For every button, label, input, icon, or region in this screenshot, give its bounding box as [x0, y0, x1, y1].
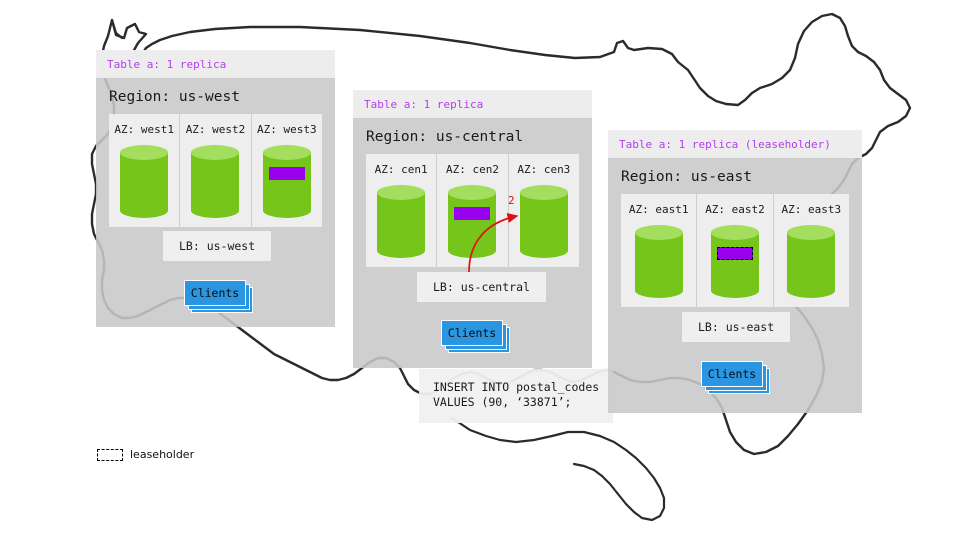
az-row-us-central: AZ: cen1 AZ: cen2 AZ: cen3 — [366, 154, 579, 267]
node-cylinder-west2[interactable] — [191, 145, 239, 217]
az-label-west2: AZ: west2 — [186, 123, 246, 136]
cylinder-top — [635, 225, 683, 240]
panel-header-us-east: Table a: 1 replica (leaseholder) — [608, 130, 862, 158]
cylinder-body — [263, 152, 311, 210]
region-title-us-central: Region: us-central — [353, 118, 592, 154]
node-cylinder-west1[interactable] — [120, 145, 168, 217]
az-cell-west3[interactable]: AZ: west3 — [252, 114, 322, 227]
replica-block-cen2 — [454, 207, 490, 220]
panel-header-us-central: Table a: 1 replica — [353, 90, 592, 118]
node-cylinder-cen3[interactable] — [520, 185, 568, 257]
clients-label: Clients — [184, 280, 246, 306]
az-label-west3: AZ: west3 — [257, 123, 317, 136]
cylinder-top — [263, 145, 311, 160]
az-cell-east2[interactable]: AZ: east2 — [697, 194, 773, 307]
cylinder-body — [520, 192, 568, 250]
load-balancer-us-west[interactable]: LB: us-west — [163, 231, 271, 261]
diagram-canvas: Table a: 1 replica Region: us-west AZ: w… — [0, 0, 960, 540]
cylinder-top — [520, 185, 568, 200]
az-row-us-east: AZ: east1 AZ: east2 AZ: east3 — [621, 194, 849, 307]
region-panel-us-west: Table a: 1 replica Region: us-west AZ: w… — [96, 50, 335, 327]
az-cell-cen1[interactable]: AZ: cen1 — [366, 154, 437, 267]
node-cylinder-cen2[interactable] — [448, 185, 496, 257]
node-cylinder-west3[interactable] — [263, 145, 311, 217]
cylinder-top — [377, 185, 425, 200]
region-panel-us-east: Table a: 1 replica (leaseholder) Region:… — [608, 130, 862, 413]
az-cell-cen2[interactable]: AZ: cen2 — [437, 154, 508, 267]
cylinder-top — [711, 225, 759, 240]
cylinder-body — [787, 232, 835, 290]
az-label-east3: AZ: east3 — [782, 203, 842, 216]
az-label-cen1: AZ: cen1 — [375, 163, 428, 176]
az-cell-west2[interactable]: AZ: west2 — [180, 114, 251, 227]
clients-label: Clients — [441, 320, 503, 346]
cylinder-body — [377, 192, 425, 250]
az-label-east1: AZ: east1 — [629, 203, 689, 216]
az-row-us-west: AZ: west1 AZ: west2 AZ: west3 — [109, 114, 322, 227]
cylinder-top — [787, 225, 835, 240]
arrow-step-label-2: 2 — [508, 194, 515, 207]
clients-stack-us-central[interactable]: Clients — [441, 320, 503, 346]
cylinder-top — [120, 145, 168, 160]
sql-statement-box: INSERT INTO postal_codes VALUES (90, ‘33… — [419, 369, 613, 423]
cylinder-body — [711, 232, 759, 290]
legend-leaseholder: leaseholder — [97, 448, 194, 461]
az-cell-west1[interactable]: AZ: west1 — [109, 114, 180, 227]
az-label-west1: AZ: west1 — [114, 123, 174, 136]
clients-stack-us-east[interactable]: Clients — [701, 361, 763, 387]
leaseholder-replica-block-east2 — [717, 247, 753, 260]
cylinder-body — [120, 152, 168, 210]
region-title-us-west: Region: us-west — [96, 78, 335, 114]
cylinder-body — [635, 232, 683, 290]
legend-label: leaseholder — [130, 448, 194, 461]
leaseholder-swatch-icon — [97, 449, 123, 461]
az-label-east2: AZ: east2 — [705, 203, 765, 216]
az-cell-east3[interactable]: AZ: east3 — [774, 194, 849, 307]
node-cylinder-east3[interactable] — [787, 225, 835, 297]
az-label-cen2: AZ: cen2 — [446, 163, 499, 176]
cylinder-body — [448, 192, 496, 250]
load-balancer-us-central[interactable]: LB: us-central — [417, 272, 546, 302]
panel-header-us-west: Table a: 1 replica — [96, 50, 335, 78]
region-panel-us-central: Table a: 1 replica Region: us-central AZ… — [353, 90, 592, 368]
region-title-us-east: Region: us-east — [608, 158, 862, 194]
clients-stack-us-west[interactable]: Clients — [184, 280, 246, 306]
az-cell-east1[interactable]: AZ: east1 — [621, 194, 697, 307]
clients-label: Clients — [701, 361, 763, 387]
node-cylinder-east2[interactable] — [711, 225, 759, 297]
cylinder-body — [191, 152, 239, 210]
az-cell-cen3[interactable]: AZ: cen3 — [509, 154, 579, 267]
replica-block-west3 — [269, 167, 305, 180]
node-cylinder-east1[interactable] — [635, 225, 683, 297]
node-cylinder-cen1[interactable] — [377, 185, 425, 257]
load-balancer-us-east[interactable]: LB: us-east — [682, 312, 790, 342]
az-label-cen3: AZ: cen3 — [517, 163, 570, 176]
